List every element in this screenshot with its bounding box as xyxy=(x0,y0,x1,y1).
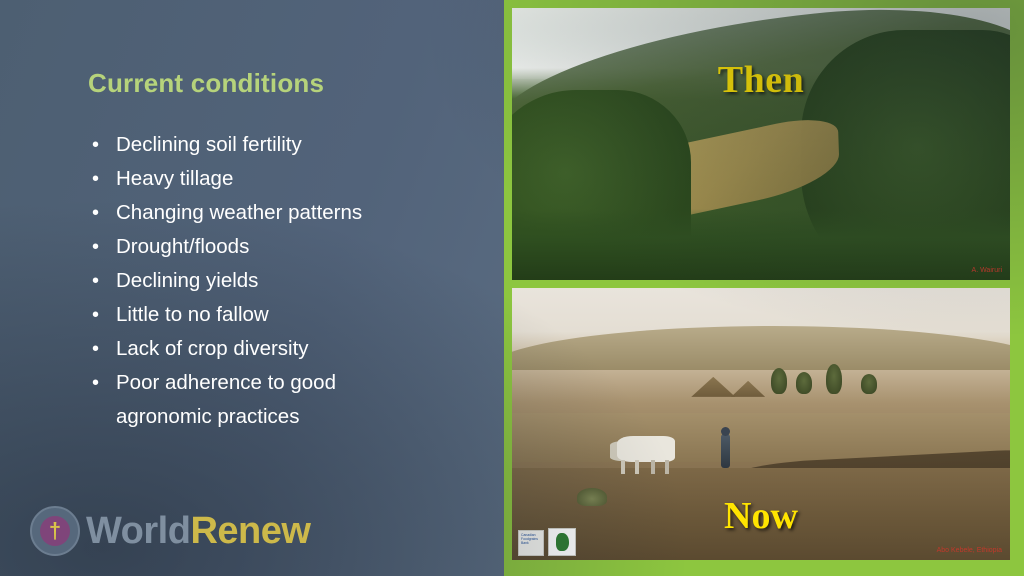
presentation-slide: Current conditions Declining soil fertil… xyxy=(0,0,1024,576)
photo-credit-then: A. Wairuri xyxy=(972,267,1002,274)
list-item: Drought/floods xyxy=(86,230,486,264)
list-item: Little to no fallow xyxy=(86,298,486,332)
tree-shape xyxy=(796,372,812,394)
oxen-shape xyxy=(617,436,675,462)
farmer-shape xyxy=(721,434,730,468)
logo-word-renew: Renew xyxy=(190,510,310,553)
list-item: Lack of crop diversity xyxy=(86,332,486,366)
africa-leaf-logo xyxy=(548,528,576,556)
list-item: Changing weather patterns xyxy=(86,196,486,230)
photo-then-image xyxy=(512,8,1010,280)
photo-panel: Then A. Wairuri Now Abo Kebele, Ethiopia xyxy=(504,0,1024,576)
photo-caption-now: Now xyxy=(512,494,1010,538)
hut-shape xyxy=(691,377,735,397)
list-item: Declining soil fertility xyxy=(86,128,486,162)
photo-then: Then A. Wairuri xyxy=(512,8,1010,280)
bullet-list: Declining soil fertility Heavy tillage C… xyxy=(86,128,486,434)
list-item: Heavy tillage xyxy=(86,162,486,196)
cross-glyph: † xyxy=(49,520,61,542)
list-item: Poor adherence to good agronomic practic… xyxy=(86,366,486,434)
logo-cross-icon: † xyxy=(30,506,80,556)
tree-shape xyxy=(826,364,842,394)
photo-credit-now: Abo Kebele, Ethiopia xyxy=(937,547,1002,554)
tree-shape xyxy=(861,374,877,394)
photo-caption-then: Then xyxy=(512,58,1010,102)
photo-now: Now Abo Kebele, Ethiopia Canadian Foodgr… xyxy=(512,288,1010,560)
hut-shape xyxy=(731,381,765,397)
page-title: Current conditions xyxy=(88,68,324,99)
partner-logo-strip: Canadian Foodgrains Bank xyxy=(518,528,576,556)
list-item: Declining yields xyxy=(86,264,486,298)
world-renew-logo: † World Renew xyxy=(30,504,310,558)
slide-text-pane: Current conditions Declining soil fertil… xyxy=(0,0,504,576)
tree-shape xyxy=(771,368,787,394)
horizon-hill-shape xyxy=(512,326,1010,370)
foreground-shape xyxy=(512,209,1010,280)
foodgrains-bank-logo: Canadian Foodgrains Bank xyxy=(518,530,544,556)
logo-word-world: World xyxy=(86,510,190,553)
